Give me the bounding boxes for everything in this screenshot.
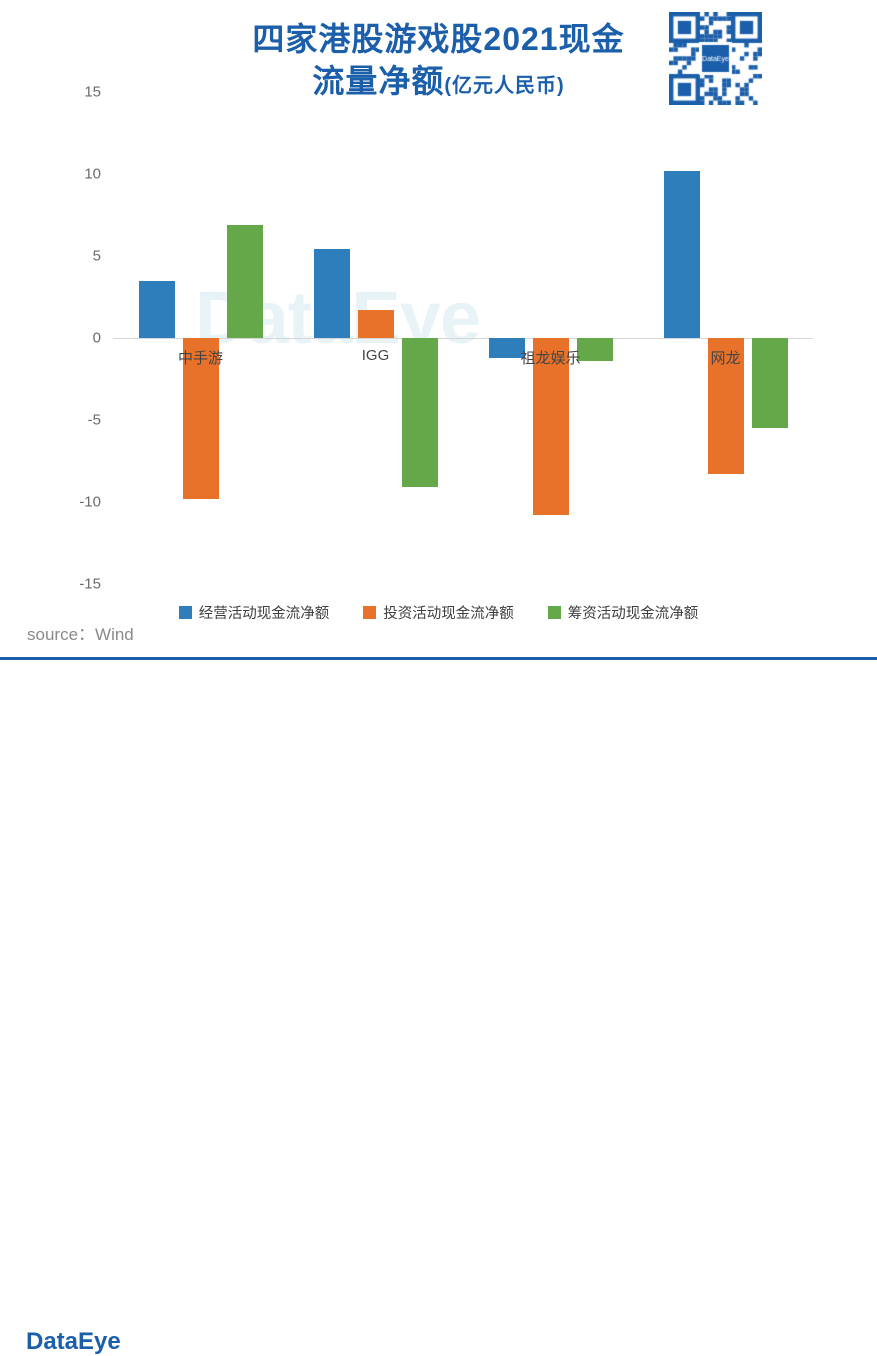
source-label: source：Wind [27,620,134,645]
y-axis-tick-label: 10 [84,166,113,183]
x-axis-category-label: 中手游 [178,347,223,368]
y-axis-tick-label: 15 [84,84,113,101]
legend-item[interactable]: 经营活动现金流净额 [179,602,330,623]
x-axis-category-label: 网龙 [710,347,740,368]
legend-label: 筹资活动现金流净额 [568,602,699,623]
y-axis-tick-label: 0 [93,330,113,347]
legend-swatch-icon [548,606,561,619]
bar-网龙-经营活动现金流净额 [664,171,700,338]
y-axis-tick-label: 5 [93,248,113,265]
x-axis-category-label: 祖龙娱乐 [520,347,580,368]
legend-item[interactable]: 筹资活动现金流净额 [548,602,699,623]
y-axis-tick-label: -5 [88,412,113,429]
x-axis-category-label: IGG [362,347,390,364]
bar-IGG-筹资活动现金流净额 [402,338,438,487]
legend-label: 投资活动现金流净额 [383,602,514,623]
legend-swatch-icon [179,606,192,619]
bar-祖龙娱乐-筹资活动现金流净额 [577,338,613,361]
bar-祖龙娱乐-经营活动现金流净额 [489,338,525,358]
y-axis-tick-label: -15 [79,576,113,593]
bar-网龙-筹资活动现金流净额 [752,338,788,428]
legend-item[interactable]: 投资活动现金流净额 [363,602,514,623]
legend-swatch-icon [363,606,376,619]
bar-IGG-投资活动现金流净额 [358,310,394,338]
footer-bar: DataEye [0,660,877,699]
brand-logo: DataEye [26,1328,121,1356]
chart-plot-area: 151050-5-10-15中手游IGG祖龙娱乐网龙 [113,92,813,584]
legend-label: 经营活动现金流净额 [199,602,330,623]
bar-IGG-经营活动现金流净额 [314,249,350,338]
y-axis-tick-label: -10 [79,494,113,511]
bar-中手游-筹资活动现金流净额 [227,225,263,338]
bar-中手游-经营活动现金流净额 [139,281,175,338]
